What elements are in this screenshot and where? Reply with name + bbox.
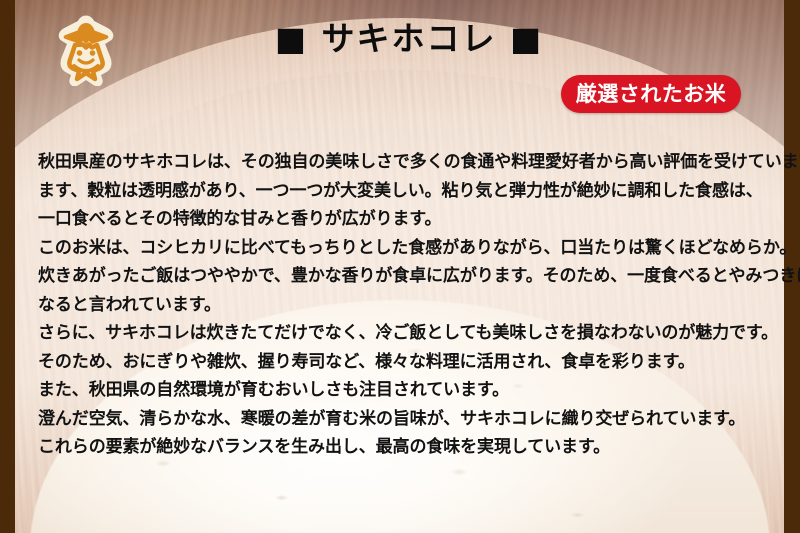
description-line: これらの要素が絶妙なバランスを生み出し、最高の食味を実現しています。 (38, 433, 780, 462)
description-line: そのため、おにぎりや雑炊、握り寿司など、様々な料理に活用され、食卓を彩ります。 (38, 348, 780, 377)
page-title: ■ サキホコレ ■ (0, 22, 800, 55)
description-line: ます、穀粒は透明感があり、一つ一つが大変美しい。粘り気と弾力性が絶妙に調和した食… (38, 177, 780, 206)
description-line: さらに、サキホコレは炊きたてだけでなく、冷ご飯としても美味しさを損なわないのが魅… (38, 319, 780, 348)
description-line: 澄んだ空気、清らかな水、寒暖の差が育む米の旨味が、サキホコレに織り交ぜられていま… (38, 405, 780, 434)
frame-border-left (0, 0, 15, 533)
status-badge-label: 厳選されたお米 (576, 84, 727, 105)
description-line: このお米は、コシヒカリに比べてもっちりとした食感がありながら、口当たりは驚くほど… (38, 234, 780, 263)
description-line: なると言われています。 (38, 291, 780, 320)
description-line: 炊きあがったご飯はつややかで、豊かな香りが食卓に広がります。そのため、一度食べる… (38, 262, 780, 291)
description-line: また、秋田県の自然環境が育むおいしさも注目されています。 (38, 376, 780, 405)
description-line: 秋田県産のサキホコレは、その独自の美味しさで多くの食通や料理愛好者から高い評価を… (38, 148, 780, 177)
status-badge: 厳選されたお米 (561, 75, 741, 113)
description-text: 秋田県産のサキホコレは、その独自の美味しさで多くの食通や料理愛好者から高い評価を… (38, 148, 780, 462)
description-line: 一口食べるとその特徴的な甘みと香りが広がります。 (38, 205, 780, 234)
rice-product-poster: ■ サキホコレ ■ 厳選されたお米 秋田県産のサキホコレは、その独自の美味しさで… (0, 0, 800, 533)
